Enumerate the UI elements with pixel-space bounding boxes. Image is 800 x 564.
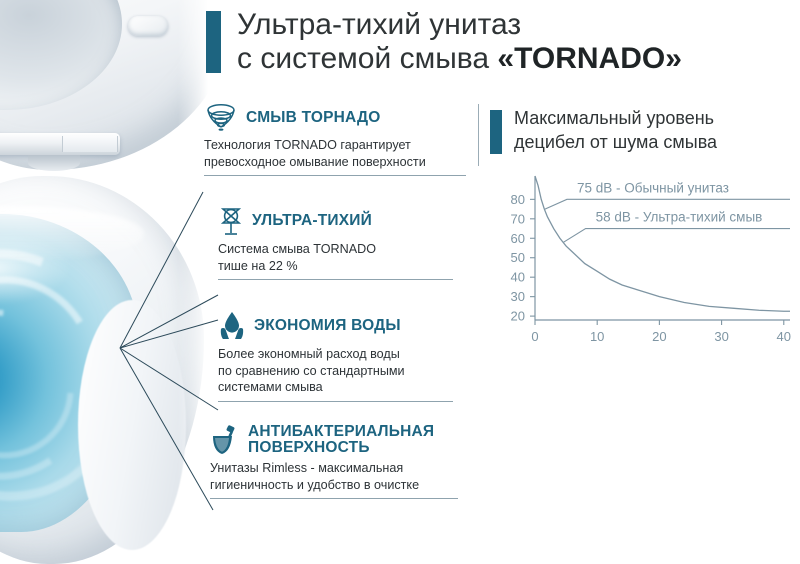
chart-title-line-1: Максимальный уровень — [514, 106, 717, 130]
seat-bumper — [128, 16, 168, 36]
y-tick-label: 60 — [511, 231, 525, 246]
y-tick-label: 30 — [511, 289, 525, 304]
page-header: Ультра-тихий унитаз с системой смыва «TO… — [206, 8, 682, 76]
feature-2-body-line-1: Система смыва TORNADO — [218, 241, 453, 258]
y-tick-label: 50 — [511, 250, 525, 265]
page-title-line-2: с системой смыва «TORNADO» — [237, 42, 682, 76]
feature-3-body-line-3: системами смыва — [218, 379, 453, 396]
chart-annotations: 75 dB - Обычный унитаз58 dB - Ультра-тих… — [545, 180, 790, 242]
feature-block-ultra-quiet: УЛЬТРА-ТИХИЙ Система смыва TORNADO тише … — [218, 205, 453, 280]
feature-1-body-line-2: превосходное омывание поверхности — [204, 154, 466, 171]
feature-2-body-line-2: тише на 22 % — [218, 258, 453, 275]
decibel-chart-panel: Максимальный уровень децибел от шума смы… — [490, 106, 796, 352]
ultra-quiet-callout-leader — [564, 229, 790, 243]
feature-4-title-line-1: АНТИБАКТЕРИАЛЬНАЯ — [248, 423, 434, 440]
toilet-brush-icon — [210, 424, 240, 456]
bowl-front-lip — [78, 300, 186, 550]
chart-panel-header: Максимальный уровень децибел от шума смы… — [490, 106, 796, 154]
y-tick-label: 40 — [511, 270, 525, 285]
page-title: Ультра-тихий унитаз с системой смыва «TO… — [237, 8, 682, 76]
feature-2-title: УЛЬТРА-ТИХИЙ — [252, 213, 372, 229]
feature-3-rule — [218, 401, 453, 402]
feature-4-title: АНТИБАКТЕРИАЛЬНАЯ ПОВЕРХНОСТЬ — [248, 424, 434, 456]
y-tick-label: 70 — [511, 211, 525, 226]
standard-toilet-callout-leader — [545, 199, 790, 209]
feature-block-water-saving: ЭКОНОМИЯ ВОДЫ Более экономный расход вод… — [218, 310, 453, 402]
water-drop-hands-icon — [218, 310, 246, 342]
feature-4-rule — [210, 498, 458, 499]
header-accent-bar — [206, 11, 221, 73]
chart-panel-title: Максимальный уровень децибел от шума смы… — [514, 106, 717, 154]
feature-4-body: Унитазы Rimless - максимальная гигиеничн… — [210, 460, 458, 493]
feature-3-body: Более экономный расход воды по сравнению… — [218, 346, 453, 396]
y-tick-label: 20 — [511, 309, 525, 324]
photo-fade-edge — [178, 0, 212, 564]
feature-1-title: СМЫВ ТОРНАДО — [246, 110, 381, 126]
x-tick-label: 20 — [652, 329, 666, 344]
feature-4-title-line-2: ПОВЕРХНОСТЬ — [248, 439, 370, 456]
feature-3-body-line-1: Более экономный расход воды — [218, 346, 453, 363]
y-axis-tick-labels: 20304050607080 — [511, 192, 525, 324]
feature-3-body-line-2: по сравнению со стандартными — [218, 363, 453, 380]
y-tick-label: 80 — [511, 192, 525, 207]
feature-2-body: Система смыва TORNADO тише на 22 % — [218, 241, 453, 274]
noise-decay-curve — [535, 176, 790, 311]
toilet-product-photo — [0, 0, 212, 564]
feature-1-body-line-1: Технология TORNADO гарантирует — [204, 137, 466, 154]
feature-3-title: ЭКОНОМИЯ ВОДЫ — [254, 318, 401, 334]
x-tick-label: 30 — [714, 329, 728, 344]
seat-hinge-hole — [28, 155, 80, 171]
decibel-plot-svg: 20304050607080 010203040 75 dB - Обычный… — [490, 172, 796, 352]
feature-4-body-line-2: гигиеничность и удобство в очистке — [210, 477, 458, 494]
page-title-line-1: Ультра-тихий унитаз — [237, 8, 682, 42]
standard-toilet-callout-label: 75 dB - Обычный унитаз — [577, 180, 729, 195]
feature-1-body: Технология TORNADO гарантирует превосход… — [204, 137, 466, 170]
x-tick-label: 40 — [777, 329, 791, 344]
infographic-page: Ультра-тихий унитаз с системой смыва «TO… — [0, 0, 800, 564]
y-axis-ticks — [530, 199, 535, 316]
chart-title-line-2: децибел от шума смыва — [514, 130, 717, 154]
header-chart-divider — [478, 104, 479, 166]
mute-sound-icon — [218, 205, 244, 237]
decibel-plot: 20304050607080 010203040 75 dB - Обычный… — [490, 172, 796, 352]
x-tick-label: 10 — [590, 329, 604, 344]
feature-2-head: УЛЬТРА-ТИХИЙ — [218, 205, 453, 237]
feature-block-antibacterial: АНТИБАКТЕРИАЛЬНАЯ ПОВЕРХНОСТЬ Унитазы Ri… — [210, 424, 458, 499]
x-axis-tick-labels: 010203040 — [531, 329, 791, 344]
tornado-vortex-icon — [204, 103, 238, 133]
page-title-line-2-prefix: с системой смыва — [237, 42, 497, 75]
seat-hinge-seam — [62, 136, 118, 152]
x-tick-label: 0 — [531, 329, 538, 344]
feature-1-head: СМЫВ ТОРНАДО — [204, 103, 466, 133]
x-axis-ticks — [535, 320, 784, 325]
chart-accent-bar — [490, 110, 502, 154]
feature-4-body-line-1: Унитазы Rimless - максимальная — [210, 460, 458, 477]
brand-name-tornado: «TORNADO» — [497, 42, 681, 75]
feature-3-head: ЭКОНОМИЯ ВОДЫ — [218, 310, 453, 342]
feature-2-rule — [218, 279, 453, 280]
feature-1-rule — [204, 175, 466, 176]
feature-block-tornado-flush: СМЫВ ТОРНАДО Технология TORNADO гарантир… — [204, 103, 466, 176]
feature-4-head: АНТИБАКТЕРИАЛЬНАЯ ПОВЕРХНОСТЬ — [210, 424, 458, 456]
ultra-quiet-callout-label: 58 dB - Ультра-тихий смыв — [596, 210, 763, 225]
